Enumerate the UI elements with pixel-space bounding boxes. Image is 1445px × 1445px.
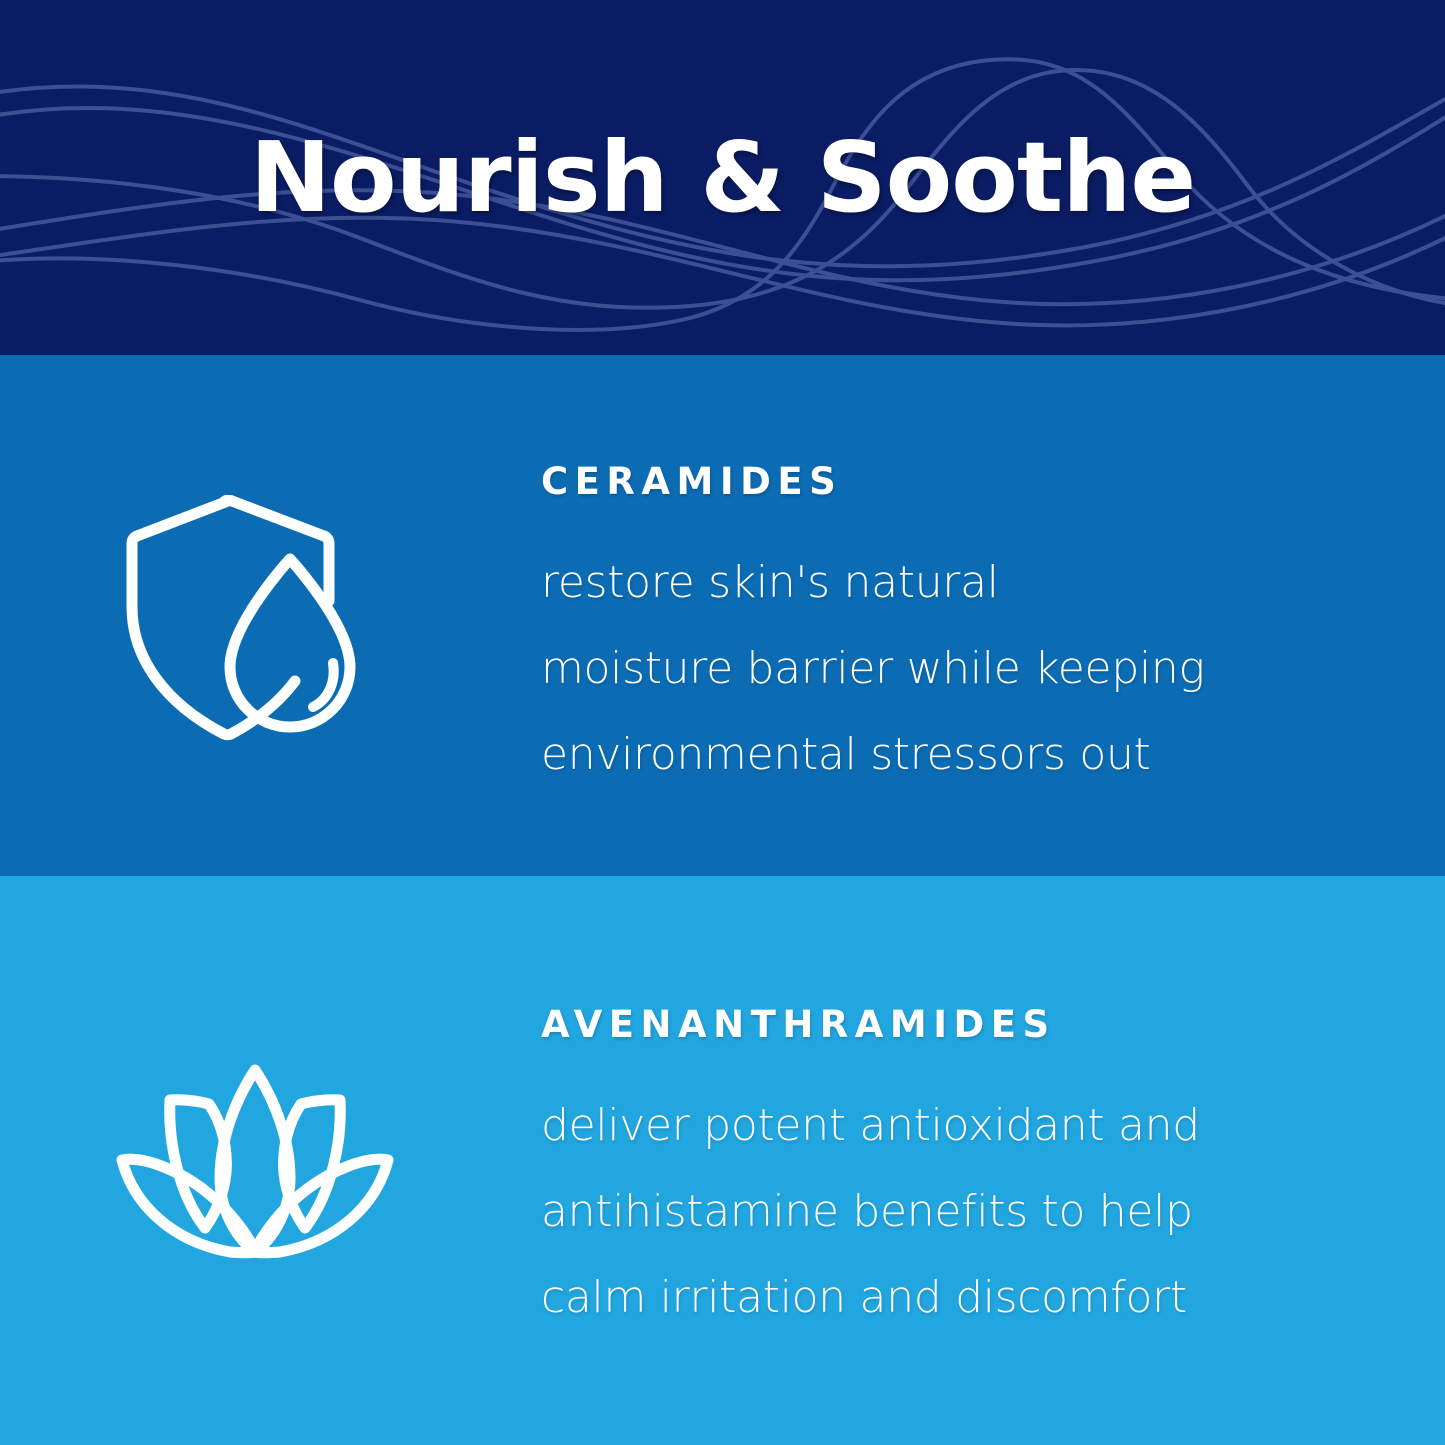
ceramides-text-block: CERAMIDES restore skin's natural moistur… — [541, 463, 1341, 798]
description-line: deliver potent antioxidant and — [541, 1083, 1341, 1169]
description-line: moisture barrier while keeping — [541, 626, 1341, 712]
page-title: Nourish & Soothe — [0, 0, 1445, 355]
description-line: calm irritation and discomfort — [541, 1255, 1341, 1341]
header-banner: Nourish & Soothe — [0, 0, 1445, 355]
lotus-flower-icon — [110, 1056, 400, 1266]
ingredient-name-ceramides: CERAMIDES — [541, 463, 1341, 502]
ingredient-description-ceramides: restore skin's natural moisture barrier … — [541, 540, 1341, 798]
section-ceramides: CERAMIDES restore skin's natural moistur… — [0, 355, 1445, 876]
ingredient-benefits-poster: Nourish & Soothe CERAMIDES restore skin'… — [0, 0, 1445, 1445]
avenanthramides-text-block: AVENANTHRAMIDES deliver potent antioxida… — [541, 1006, 1341, 1341]
description-line: restore skin's natural — [541, 540, 1341, 626]
description-line: antihistamine benefits to help — [541, 1169, 1341, 1255]
ingredient-name-avenanthramides: AVENANTHRAMIDES — [541, 1006, 1341, 1045]
description-line: environmental stressors out — [541, 712, 1341, 798]
ingredient-description-avenanthramides: deliver potent antioxidant and antihista… — [541, 1083, 1341, 1341]
shield-droplet-icon — [120, 495, 380, 745]
section-avenanthramides: AVENANTHRAMIDES deliver potent antioxida… — [0, 876, 1445, 1445]
